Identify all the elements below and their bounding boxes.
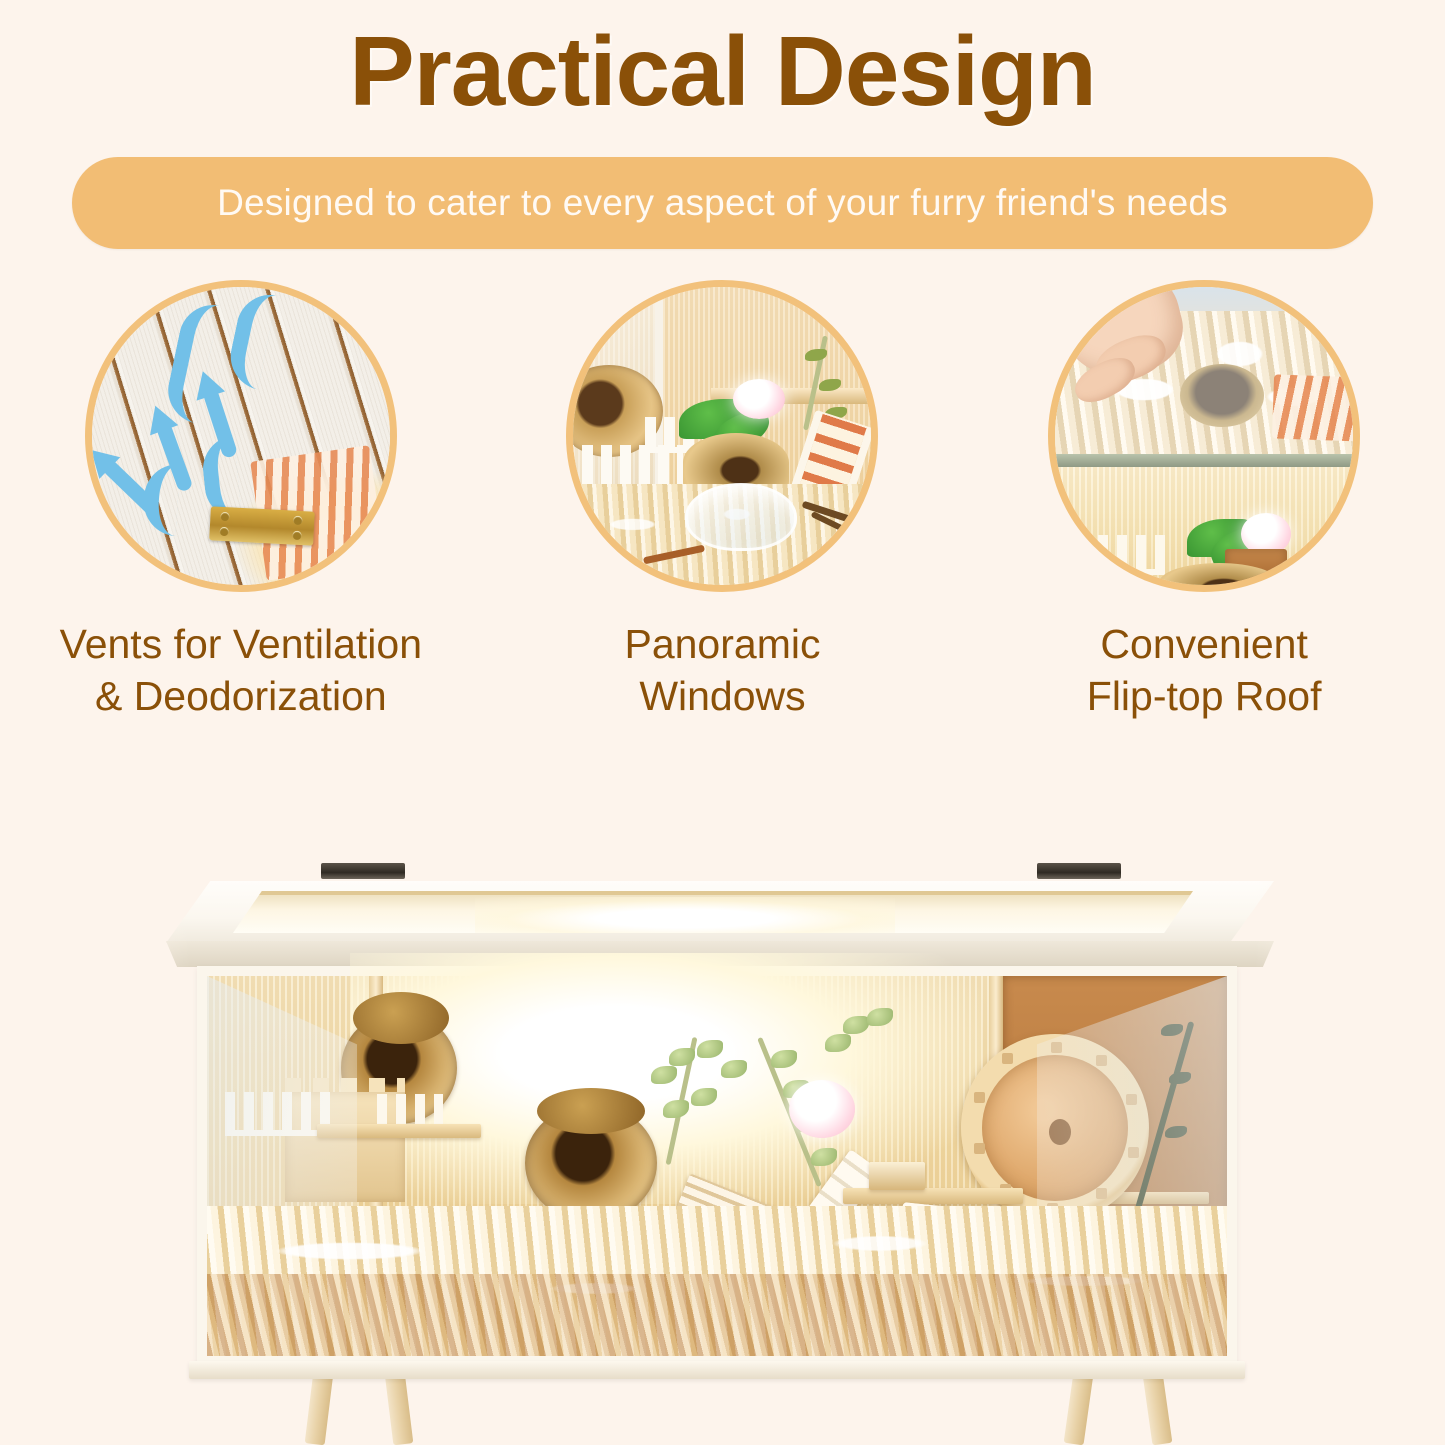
flip-top-roof-hand-photo [1048, 280, 1360, 592]
feature-caption-windows: Panoramic Windows [624, 618, 820, 723]
cage-base-rail [189, 1361, 1245, 1379]
feature-caption-ventilation: Vents for Ventilation & Deodorization [60, 618, 422, 723]
bedding-layer [207, 1206, 1227, 1356]
feature-item-ventilation: Vents for Ventilation & Deodorization [31, 280, 451, 723]
lid-light-glow [475, 897, 895, 933]
cage-cabinet [175, 841, 1265, 1396]
feature-item-windows: Panoramic Windows [512, 280, 932, 723]
lid-hinge-right [1037, 863, 1121, 879]
subtitle-banner: Designed to cater to every aspect of you… [72, 157, 1373, 249]
vent-slats-airflow-photo [85, 280, 397, 592]
feature-caption-roof: Convenient Flip-top Roof [1087, 618, 1322, 723]
lid-hinge-left [321, 863, 405, 879]
subtitle-text: Designed to cater to every aspect of you… [217, 182, 1228, 224]
page-title: Practical Design [0, 18, 1445, 126]
panoramic-window-interior-photo [566, 280, 878, 592]
hamster-cage-full-product-photo [0, 745, 1445, 1445]
cage-glass-box [197, 966, 1237, 1366]
feature-item-roof: Convenient Flip-top Roof [994, 280, 1414, 723]
feature-row: Vents for Ventilation & Deodorization [0, 280, 1445, 723]
